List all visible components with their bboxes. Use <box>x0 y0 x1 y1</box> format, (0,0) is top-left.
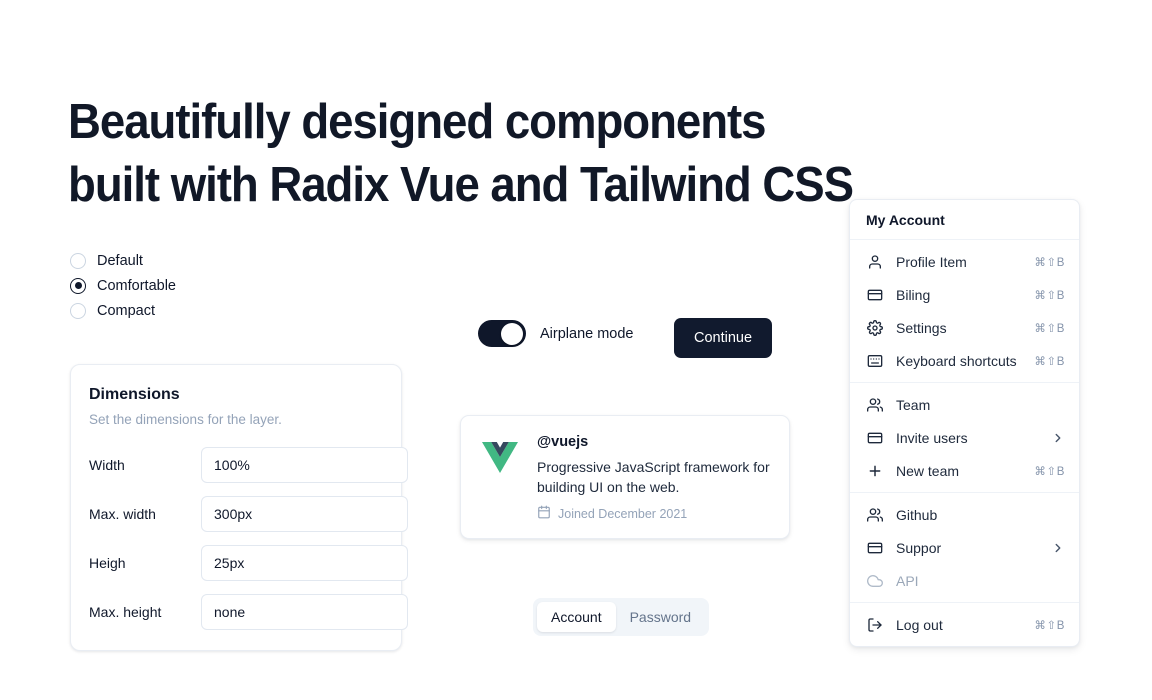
radio-group: Default Comfortable Compact <box>70 248 300 323</box>
menu-item-label: Invite users <box>896 430 1051 446</box>
dimensions-title: Dimensions <box>89 386 379 404</box>
account-dropdown-menu: My Account Profile Item ⌘⇧B Biling ⌘⇧B <box>849 199 1080 647</box>
menu-group-account: Profile Item ⌘⇧B Biling ⌘⇧B Settings ⌘⇧B <box>850 240 1079 382</box>
cloud-icon <box>866 572 883 589</box>
menu-item-label: Biling <box>896 287 1034 303</box>
menu-item-keyboard-shortcuts[interactable]: Keyboard shortcuts ⌘⇧B <box>850 344 1079 377</box>
menu-item-label: API <box>896 573 1065 589</box>
vuejs-handle: @vuejs <box>537 434 771 450</box>
switch-knob <box>501 323 523 345</box>
logout-icon <box>866 616 883 633</box>
vuejs-description: Progressive JavaScript framework for bui… <box>537 457 771 497</box>
tab-account[interactable]: Account <box>537 602 616 632</box>
menu-item-team[interactable]: Team <box>850 388 1079 421</box>
airplane-mode-row: Airplane mode <box>478 320 634 347</box>
menu-item-new-team[interactable]: New team ⌘⇧B <box>850 454 1079 487</box>
tab-password[interactable]: Password <box>616 602 705 632</box>
user-icon <box>866 253 883 270</box>
continue-button[interactable]: Continue <box>674 318 772 358</box>
keyboard-icon <box>866 352 883 369</box>
menu-item-invite-users[interactable]: Invite users <box>850 421 1079 454</box>
credit-card-icon <box>866 429 883 446</box>
radio-label: Default <box>97 253 143 269</box>
menu-item-shortcut: ⌘⇧B <box>1034 618 1065 632</box>
calendar-icon <box>537 505 558 522</box>
page-title-line-2: built with Radix Vue and Tailwind CSS <box>68 154 961 217</box>
menu-item-logout[interactable]: Log out ⌘⇧B <box>850 608 1079 641</box>
dimension-row-max-height: Max. height <box>89 594 379 630</box>
radio-label: Compact <box>97 303 155 319</box>
height-input[interactable] <box>201 545 408 581</box>
credit-card-icon <box>866 286 883 303</box>
menu-item-settings[interactable]: Settings ⌘⇧B <box>850 311 1079 344</box>
radio-indicator <box>70 278 86 294</box>
height-label: Heigh <box>89 555 201 571</box>
max-width-input[interactable] <box>201 496 408 532</box>
dimension-row-width: Width <box>89 447 379 483</box>
vuejs-joined: Joined December 2021 <box>537 505 771 522</box>
menu-item-label: New team <box>896 463 1034 479</box>
menu-item-shortcut: ⌘⇧B <box>1034 288 1065 302</box>
max-height-input[interactable] <box>201 594 408 630</box>
gear-icon <box>866 319 883 336</box>
users-icon <box>866 396 883 413</box>
vue-logo-icon <box>479 436 521 478</box>
menu-item-billing[interactable]: Biling ⌘⇧B <box>850 278 1079 311</box>
dimension-row-max-width: Max. width <box>89 496 379 532</box>
tabs: Account Password <box>533 598 709 636</box>
width-input[interactable] <box>201 447 408 483</box>
menu-item-label: Github <box>896 507 1065 523</box>
menu-item-label: Team <box>896 397 1065 413</box>
airplane-mode-label: Airplane mode <box>540 326 634 342</box>
vuejs-hover-card: @vuejs Progressive JavaScript framework … <box>460 415 790 539</box>
menu-item-label: Settings <box>896 320 1034 336</box>
menu-item-label: Log out <box>896 617 1034 633</box>
plus-icon <box>866 462 883 479</box>
menu-item-shortcut: ⌘⇧B <box>1034 255 1065 269</box>
radio-indicator <box>70 253 86 269</box>
chevron-right-icon <box>1051 541 1065 555</box>
menu-item-shortcut: ⌘⇧B <box>1034 354 1065 368</box>
menu-item-shortcut: ⌘⇧B <box>1034 321 1065 335</box>
menu-group-logout: Log out ⌘⇧B <box>850 603 1079 646</box>
menu-item-github[interactable]: Github <box>850 498 1079 531</box>
menu-item-profile[interactable]: Profile Item ⌘⇧B <box>850 245 1079 278</box>
menu-item-label: Profile Item <box>896 254 1034 270</box>
dimensions-subtitle: Set the dimensions for the layer. <box>89 412 379 427</box>
users-icon <box>866 506 883 523</box>
page-title-line-1: Beautifully designed components <box>68 91 961 154</box>
menu-item-shortcut: ⌘⇧B <box>1034 464 1065 478</box>
menu-item-label: Suppor <box>896 540 1051 556</box>
menu-group-links: Github Suppor API <box>850 493 1079 602</box>
menu-group-team: Team Invite users New team <box>850 383 1079 492</box>
chevron-right-icon <box>1051 431 1065 445</box>
dimensions-card: Dimensions Set the dimensions for the la… <box>70 364 402 651</box>
max-height-label: Max. height <box>89 604 201 620</box>
max-width-label: Max. width <box>89 506 201 522</box>
page-title: Beautifully designed components built wi… <box>68 91 961 217</box>
menu-item-support[interactable]: Suppor <box>850 531 1079 564</box>
menu-item-label: Keyboard shortcuts <box>896 353 1034 369</box>
hover-card-body: @vuejs Progressive JavaScript framework … <box>537 434 771 522</box>
width-label: Width <box>89 457 201 473</box>
credit-card-icon <box>866 539 883 556</box>
radio-label: Comfortable <box>97 278 176 294</box>
airplane-mode-switch[interactable] <box>478 320 526 347</box>
menu-item-api: API <box>850 564 1079 597</box>
radio-option-comfortable[interactable]: Comfortable <box>70 273 300 298</box>
radio-indicator <box>70 303 86 319</box>
radio-option-default[interactable]: Default <box>70 248 300 273</box>
joined-text: Joined December 2021 <box>558 507 687 521</box>
menu-header: My Account <box>850 200 1079 239</box>
dimension-row-height: Heigh <box>89 545 379 581</box>
radio-option-compact[interactable]: Compact <box>70 298 300 323</box>
